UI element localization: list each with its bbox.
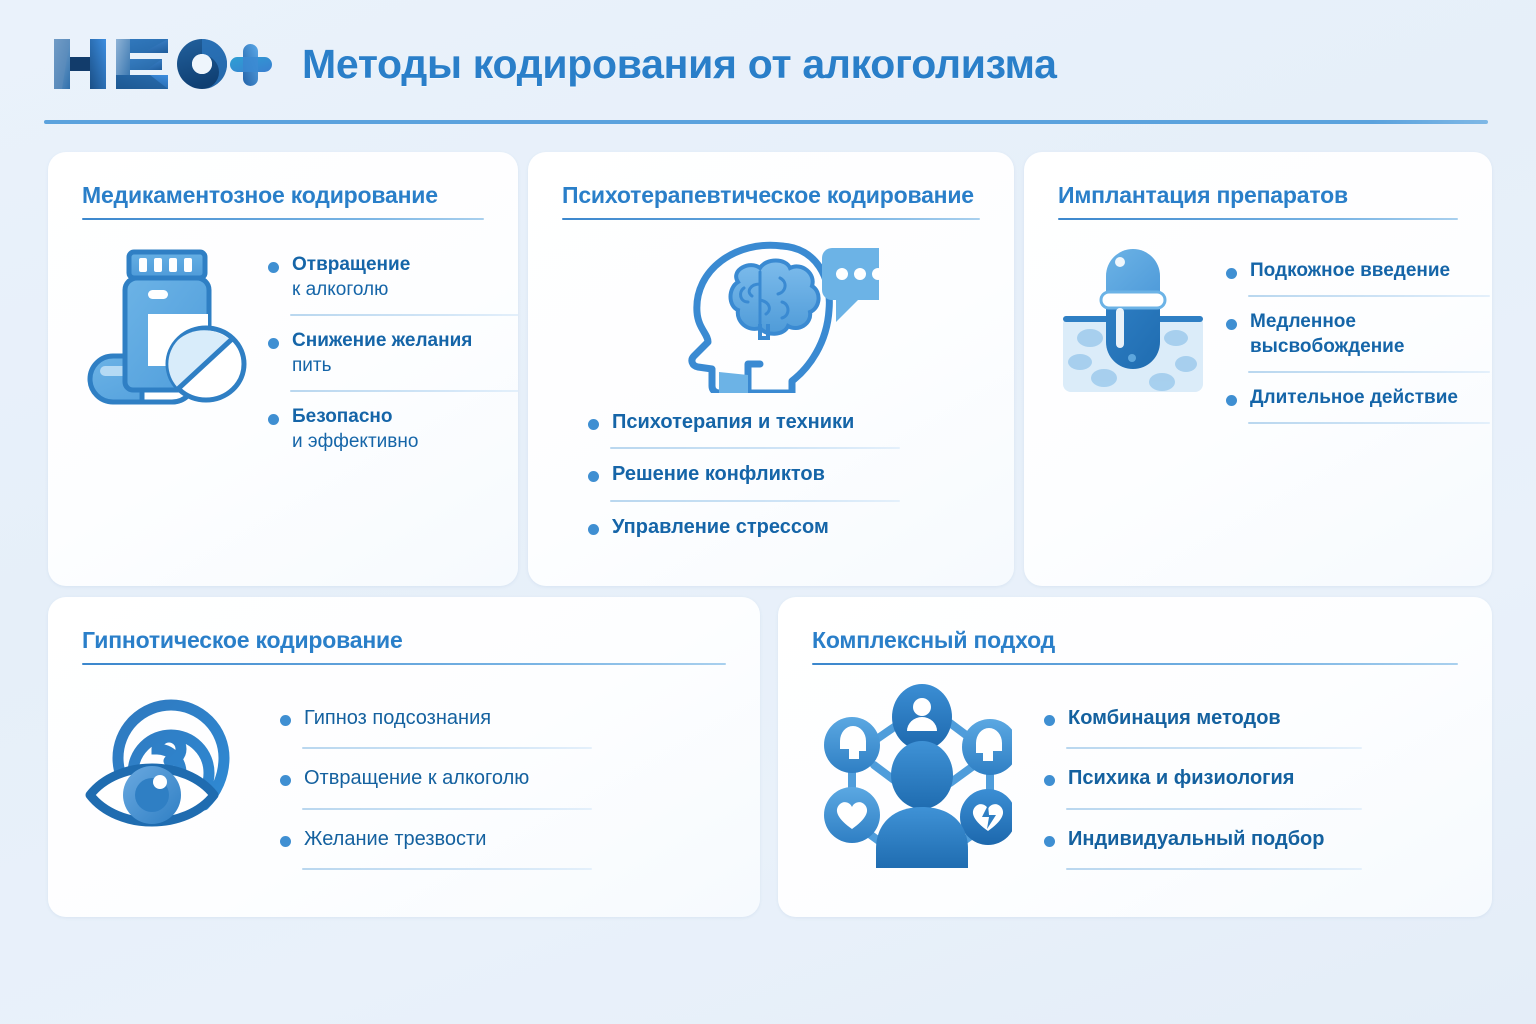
list-item: Медленное высвобождение xyxy=(1224,309,1490,359)
bullet-dot xyxy=(1044,836,1055,847)
bullet-strong: Длительное действие xyxy=(1250,385,1490,410)
bullet-strong: Индивидуальный подбор xyxy=(1068,826,1458,852)
list-item: Индивидуальный подбор xyxy=(1042,826,1458,852)
person-network-icon-svg xyxy=(812,683,1012,868)
bullet-separator xyxy=(1248,295,1490,297)
bullet-list-psychotherapy: Психотерапия и техники Решение конфликто… xyxy=(562,409,980,540)
card-title-hypnosis: Гипнотическое кодирование xyxy=(82,627,726,654)
bullet-dot xyxy=(268,414,279,425)
card-title-medication: Медикаментозное кодирование xyxy=(82,182,484,209)
brain-head-speech-icon-svg xyxy=(664,238,879,393)
bullet-regular: и эффективно xyxy=(292,429,518,454)
list-item: Безопасно и эффективно xyxy=(266,404,518,454)
bullet-strong: Психотерапия и техники xyxy=(612,409,980,435)
bullet-dot xyxy=(588,524,599,535)
bullet-separator xyxy=(610,447,900,449)
bullet-strong: Гипноз подсознания xyxy=(304,705,726,731)
hypnosis-spiral-eye-icon xyxy=(82,683,252,886)
bullet-dot xyxy=(268,338,279,349)
bullet-dot xyxy=(268,262,279,273)
bullet-strong: Медленное xyxy=(1250,309,1490,334)
bullet-dot xyxy=(1044,775,1055,786)
list-item: Решение конфликтов xyxy=(586,461,980,487)
hypnosis-spiral-eye-icon-svg xyxy=(82,683,252,838)
bullet-dot xyxy=(1226,395,1237,406)
bullet-dot xyxy=(588,419,599,430)
bullet-strong: Психика и физиология xyxy=(1068,765,1458,791)
list-item: Снижение желания пить xyxy=(266,328,518,378)
cards-row-bottom: Гипнотическое кодирование xyxy=(48,597,1492,917)
header-divider xyxy=(44,120,1488,124)
page-header: Методы кодирования от алкоголизма xyxy=(0,0,1536,128)
bullet-regular: к алкоголю xyxy=(292,277,518,302)
bullet-strong: Безопасно xyxy=(292,404,518,429)
bullet-strong: Отвращение к алкоголю xyxy=(304,765,726,791)
cards-row-top: Медикаментозное кодирование xyxy=(48,152,1492,586)
card-title-psychotherapy: Психотерапевтическое кодирование xyxy=(562,182,980,209)
infographic-page: Методы кодирования от алкоголизма Медика… xyxy=(0,0,1536,1024)
list-item: Отвращение к алкоголю xyxy=(278,765,726,791)
list-item: Гипноз подсознания xyxy=(278,705,726,731)
bullet-dot xyxy=(588,471,599,482)
bullet-list-medication: Отвращение к алкоголю Снижение желания п… xyxy=(266,238,518,454)
pill-bottle-icon xyxy=(82,238,252,454)
bullet-separator xyxy=(290,314,518,316)
list-item: Отвращение к алкоголю xyxy=(266,252,518,302)
bullet-dot xyxy=(1226,319,1237,330)
list-item: Психика и физиология xyxy=(1042,765,1458,791)
neo-plus-logo-icon xyxy=(52,33,274,95)
bullet-separator xyxy=(610,500,900,502)
card-title-divider xyxy=(82,663,726,665)
card-title-implantation: Имплантация препаратов xyxy=(1058,182,1458,209)
bullet-separator xyxy=(290,390,518,392)
bullet-regular: пить xyxy=(292,353,518,378)
page-title: Методы кодирования от алкоголизма xyxy=(302,41,1057,88)
bullet-separator xyxy=(302,747,592,749)
card-complex-approach[interactable]: Комплексный подход xyxy=(778,597,1492,917)
card-hypnosis[interactable]: Гипнотическое кодирование xyxy=(48,597,760,917)
bullet-separator xyxy=(302,808,592,810)
card-title-divider xyxy=(82,218,484,220)
bullet-list-implantation: Подкожное введение Медленное высвобожден… xyxy=(1224,238,1490,436)
card-psychotherapy[interactable]: Психотерапевтическое кодирование xyxy=(528,152,1014,586)
bullet-strong: Управление стрессом xyxy=(612,514,980,540)
bullet-strong: Подкожное введение xyxy=(1250,258,1490,283)
bullet-dot xyxy=(280,775,291,786)
bullet-list-hypnosis: Гипноз подсознания Отвращение к алкоголю… xyxy=(278,683,726,886)
bullet-strong: Комбинация методов xyxy=(1068,705,1458,731)
bullet-strong-second-line: высвобождение xyxy=(1250,334,1490,359)
card-implantation[interactable]: Имплантация препаратов xyxy=(1024,152,1492,586)
bullet-list-complex-approach: Комбинация методов Психика и физиология … xyxy=(1042,683,1458,886)
neo-plus-logo xyxy=(52,33,274,95)
bullet-separator xyxy=(1066,868,1362,870)
bullet-strong: Снижение желания xyxy=(292,328,518,353)
card-title-divider xyxy=(562,218,980,220)
bullet-dot xyxy=(1044,715,1055,726)
bullet-separator xyxy=(1066,747,1362,749)
bullet-separator xyxy=(1248,371,1490,373)
bullet-dot xyxy=(1226,268,1237,279)
bullet-separator xyxy=(302,868,592,870)
bullet-strong: Желание трезвости xyxy=(304,826,726,852)
card-title-divider xyxy=(812,663,1458,665)
capsule-implant-icon xyxy=(1058,238,1208,436)
list-item: Подкожное введение xyxy=(1224,258,1490,283)
list-item: Длительное действие xyxy=(1224,385,1490,410)
card-medication[interactable]: Медикаментозное кодирование xyxy=(48,152,518,586)
list-item: Желание трезвости xyxy=(278,826,726,852)
brain-head-speech-icon xyxy=(664,238,879,393)
bullet-separator xyxy=(1248,422,1490,424)
person-network-icon xyxy=(812,683,1012,886)
bullet-strong: Отвращение xyxy=(292,252,518,277)
card-title-divider xyxy=(1058,218,1458,220)
list-item: Психотерапия и техники xyxy=(586,409,980,435)
bullet-separator xyxy=(1066,808,1362,810)
pill-bottle-icon-svg xyxy=(82,238,252,413)
card-title-complex-approach: Комплексный подход xyxy=(812,627,1458,654)
list-item: Управление стрессом xyxy=(586,514,980,540)
capsule-implant-icon-svg xyxy=(1058,238,1208,403)
bullet-dot xyxy=(280,715,291,726)
bullet-strong: Решение конфликтов xyxy=(612,461,980,487)
bullet-dot xyxy=(280,836,291,847)
list-item: Комбинация методов xyxy=(1042,705,1458,731)
